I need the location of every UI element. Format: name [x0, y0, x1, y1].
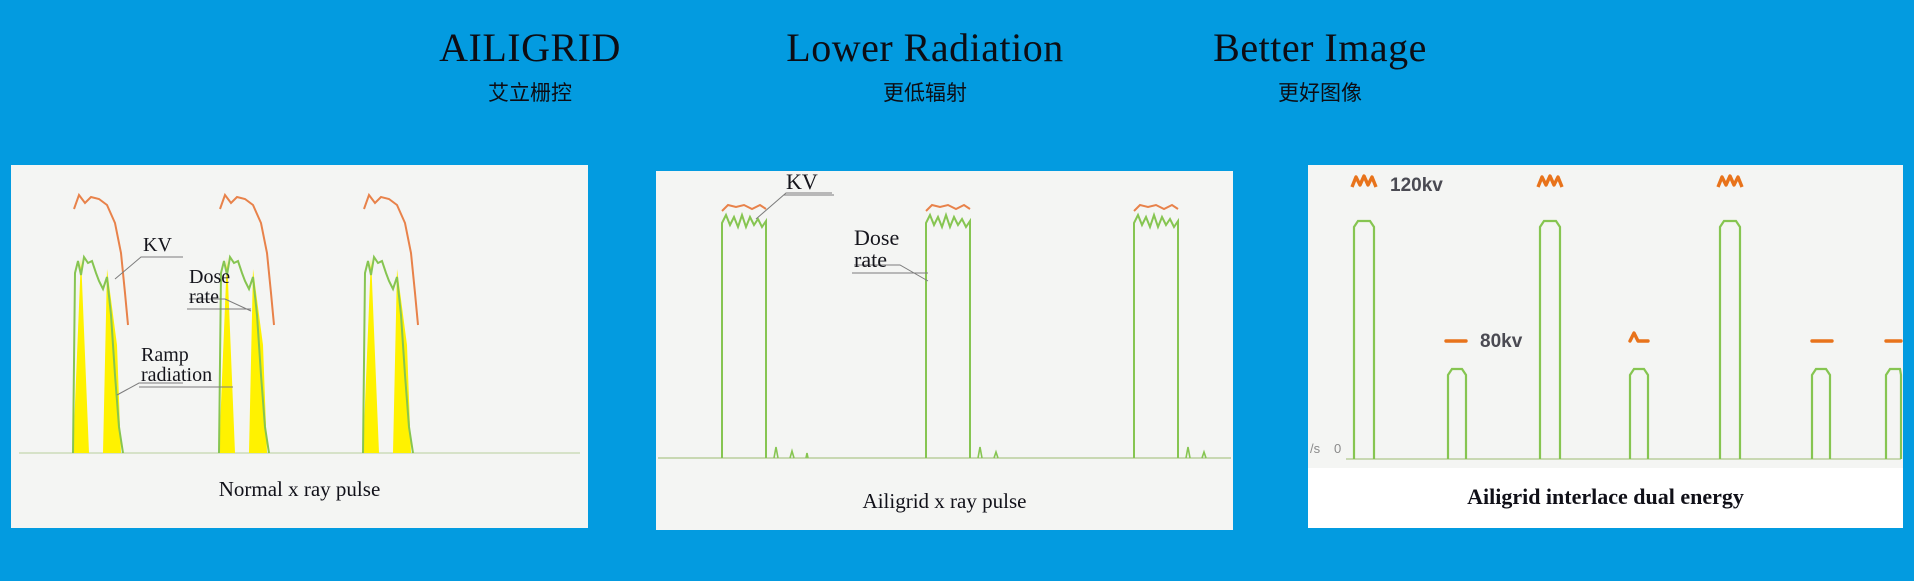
baseline-noise-3: [1186, 447, 1206, 458]
header-column-ailigrid: AILIGRID 艾立栅控: [370, 24, 690, 108]
panel-ailigrid-interlace-dual-energy: /s 0 120kv: [1308, 165, 1903, 528]
chart-ailigrid-interlace-dual-energy-svg: /s 0 120kv: [1308, 165, 1903, 467]
pulse-120kv-3: [1720, 221, 1740, 459]
dose-rate-pulse-1: [722, 215, 766, 458]
chart-ailigrid-x-ray-pulse: KV Dose rate: [656, 171, 1233, 471]
header-title-cn-0: 艾立栅控: [370, 78, 690, 108]
marker-80kv-icon-2: [1630, 333, 1648, 341]
annotation-kv-label: KV: [786, 171, 818, 194]
annotation-kv-label: KV: [143, 234, 172, 256]
dose-rate-pulse-2: [926, 215, 970, 458]
chart-ailigrid-interlace-dual-energy: /s 0 120kv: [1308, 165, 1903, 467]
axis-unit-label: /s: [1310, 441, 1321, 456]
pulse-80kv-3: [1812, 369, 1830, 459]
legend-label-120kv: 120kv: [1390, 175, 1443, 196]
annotation-radiation-label: radiation: [141, 364, 212, 386]
chart-normal-x-ray-pulse: KV Dose rate Ramp radiation: [11, 165, 588, 465]
annotation-ramp-label: Ramp: [141, 344, 189, 366]
kv-pulse-2: [926, 205, 970, 211]
slide-root: AILIGRID 艾立栅控 Lower Radiation 更低辐射 Bette…: [0, 0, 1914, 581]
panel-1-caption: Normal x ray pulse: [11, 477, 588, 502]
panel-2-caption: Ailigrid x ray pulse: [656, 489, 1233, 514]
marker-120kv-icon-3: [1718, 176, 1742, 187]
chart-normal-x-ray-pulse-svg: KV Dose rate Ramp radiation: [11, 165, 588, 465]
panel-ailigrid-x-ray-pulse: KV Dose rate Ailigrid x ray pulse: [656, 171, 1233, 530]
header-title-cn-1: 更低辐射: [760, 78, 1090, 108]
annotation-rate-label: rate: [854, 247, 887, 272]
baseline-noise-2: [978, 447, 998, 458]
pulse-80kv-1: [1448, 369, 1466, 459]
annotation-rate-label: rate: [189, 286, 219, 308]
chart-ailigrid-x-ray-pulse-svg: KV Dose rate: [656, 171, 1233, 471]
pulse-80kv-4: [1886, 369, 1901, 459]
axis-zero-label: 0: [1334, 441, 1341, 456]
pulse-120kv-1: [1354, 221, 1374, 459]
header-title-cn-2: 更好图像: [1155, 78, 1485, 108]
legend-label-80kv: 80kv: [1480, 331, 1523, 352]
baseline-noise-1: [774, 447, 808, 458]
kv-leader-line: [756, 193, 832, 219]
marker-120kv-icon-2: [1538, 176, 1562, 187]
kv-pulse-1: [722, 205, 766, 211]
header-title-en-2: Better Image: [1155, 24, 1485, 72]
panel-normal-x-ray-pulse: KV Dose rate Ramp radiation Normal x ray…: [11, 165, 588, 528]
marker-120kv-legend-icon: [1352, 176, 1376, 187]
pulse-120kv-2: [1540, 221, 1560, 459]
panel-3-caption: Ailigrid interlace dual energy: [1308, 484, 1903, 510]
annotation-dose-label: Dose: [189, 266, 230, 288]
header-title-en-0: AILIGRID: [370, 24, 690, 72]
header: AILIGRID 艾立栅控 Lower Radiation 更低辐射 Bette…: [0, 24, 1914, 124]
header-column-lower-radiation: Lower Radiation 更低辐射: [760, 24, 1090, 108]
pulse-80kv-2: [1630, 369, 1648, 459]
kv-leader-line: [115, 257, 183, 279]
header-title-en-1: Lower Radiation: [760, 24, 1090, 72]
kv-pulse-3: [1134, 205, 1178, 211]
header-column-better-image: Better Image 更好图像: [1155, 24, 1485, 108]
dose-rate-pulse-3: [1134, 215, 1178, 458]
